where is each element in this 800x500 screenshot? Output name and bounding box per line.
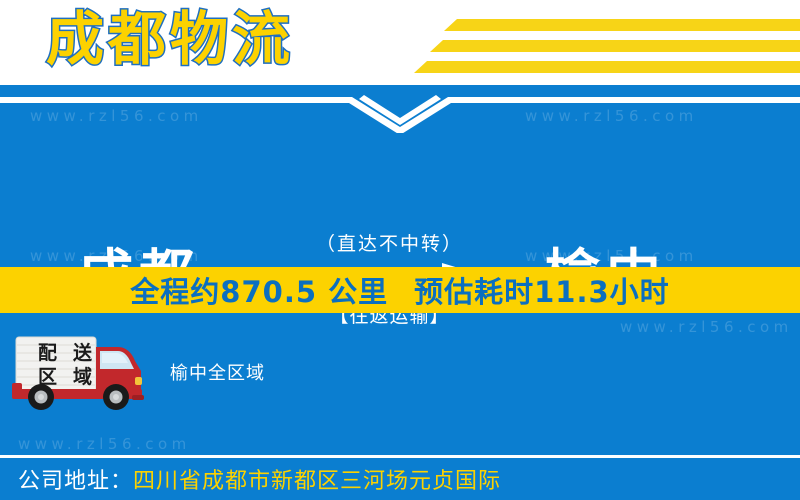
stripe-1 [444,19,800,31]
truck-box-label: 配 送 区 域 [30,341,100,389]
truck-box-char-1: 配 [38,342,57,364]
delivery-row: 配 送 区 域 榆中全区域 [0,333,800,413]
header-band: 成都物流 [0,0,800,85]
stripe-2 [430,40,800,52]
footer-address-label: 公司地址： [18,463,133,495]
footer-address-value: 四川省成都市新都区三河场元贞国际 [133,463,501,495]
watermark: www.rzl56.com [18,435,191,453]
truck-box-char-3: 区 [38,366,57,388]
truck-box-char-4: 域 [73,366,92,388]
stats-band: 全程约870.5 公里 预估耗时11.3小时 [0,267,800,313]
decorative-stripes [400,0,800,85]
stripe-3 [414,61,800,73]
main-blue-panel: www.rzl56.com www.rzl56.com www.rzl56.co… [0,85,800,500]
footer-band: 公司地址： 四川省成都市新都区三河场元贞国际 [0,458,800,500]
delivery-truck-icon: 配 送 区 域 [8,333,148,411]
direct-shipping-note: （直达不中转） [282,231,497,257]
logistics-poster: 成都物流 www.rzl56.com www.rzl56.com www.rzl… [0,0,800,500]
delivery-area-text: 榆中全区域 [170,359,265,385]
page-title: 成都物流 [46,4,294,74]
truck-box-char-2: 送 [73,342,92,364]
double-chevron-down-icon [0,93,800,133]
duration-text: 预估耗时11.3小时 [414,269,670,311]
distance-text: 全程约870.5 公里 [130,269,388,311]
